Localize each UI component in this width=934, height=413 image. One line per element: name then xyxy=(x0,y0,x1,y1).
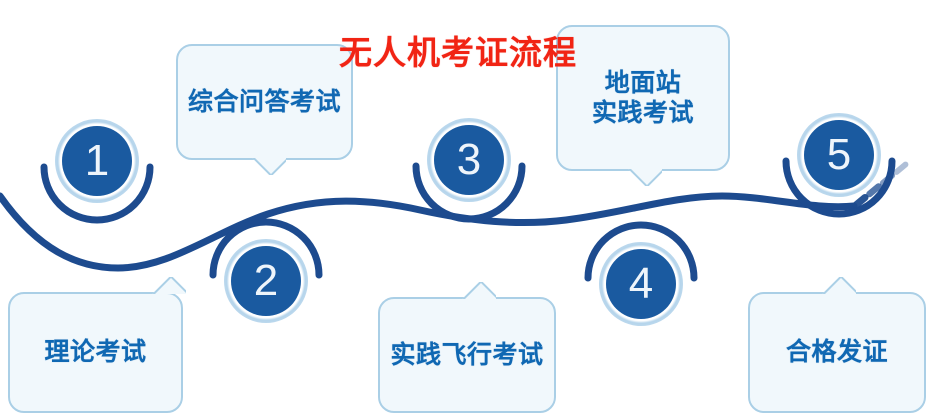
callout-tail xyxy=(822,277,856,294)
step-circle-4[interactable]: 4 xyxy=(599,242,683,326)
step-number-label: 4 xyxy=(629,262,653,306)
step-circle-1[interactable]: 1 xyxy=(55,119,139,203)
step-number-label: 1 xyxy=(85,139,109,183)
callout-tail xyxy=(252,158,286,175)
page-title: 无人机考证流程 xyxy=(339,26,577,74)
step-disc: 5 xyxy=(804,120,874,190)
wave-tail-dash xyxy=(883,176,892,184)
step-number-label: 3 xyxy=(457,138,481,182)
callout-label: 地面站 实践考试 xyxy=(592,68,694,129)
step-disc: 1 xyxy=(62,126,132,196)
wave-tail-dash xyxy=(897,165,906,173)
wave-curve xyxy=(0,196,854,268)
callout-label: 实践飞行考试 xyxy=(390,340,543,371)
callout-label: 合格发证 xyxy=(786,337,888,368)
step-disc: 2 xyxy=(231,246,301,316)
callout-practical-flight-exam[interactable]: 实践飞行考试 xyxy=(378,297,556,413)
callout-tail xyxy=(628,169,662,186)
callout-pass-certification[interactable]: 合格发证 xyxy=(748,292,926,413)
step-disc: 4 xyxy=(606,249,676,319)
wave-tail-dash xyxy=(856,198,865,206)
step-number-label: 5 xyxy=(827,133,851,177)
step-circle-2[interactable]: 2 xyxy=(224,239,308,323)
callout-tail xyxy=(152,277,186,294)
flow-diagram-canvas: 理论考试综合问答考试实践飞行考试地面站 实践考试合格发证 12345 无人机考证… xyxy=(0,0,934,413)
callout-tail xyxy=(462,282,496,299)
step-circle-3[interactable]: 3 xyxy=(427,118,511,202)
callout-comprehensive-qa-exam[interactable]: 综合问答考试 xyxy=(176,44,353,160)
step-disc: 3 xyxy=(434,125,504,195)
callout-label: 理论考试 xyxy=(44,337,146,368)
step-circle-5[interactable]: 5 xyxy=(797,113,881,197)
callout-theory-exam[interactable]: 理论考试 xyxy=(8,292,183,413)
callout-label: 综合问答考试 xyxy=(188,87,341,118)
callout-ground-station-practical-exam[interactable]: 地面站 实践考试 xyxy=(556,25,730,171)
step-number-label: 2 xyxy=(254,259,278,303)
